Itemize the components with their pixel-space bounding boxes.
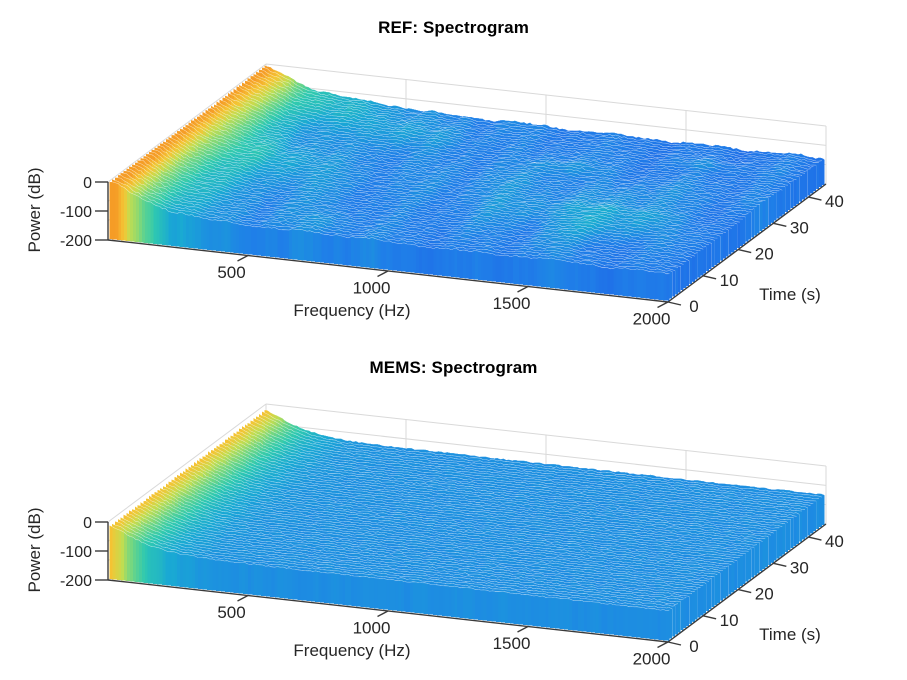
matlab-figure-window: REF: Spectrogram 50010001500200001020304… [0,0,907,680]
x-tick-label: 2000 [633,310,671,329]
x-tick-label: 1500 [493,634,531,653]
z-tick-label: 0 [83,515,92,532]
subplot-mems: MEMS: Spectrogram 5001000150020000102030… [0,340,907,680]
x-tick-label: 500 [217,263,245,282]
subplot-ref: REF: Spectrogram 50010001500200001020304… [0,0,907,340]
z-tick-label: -200 [60,573,92,590]
y-tick-label: 30 [790,218,809,237]
x-tick-label: 1500 [493,294,531,313]
y-tick-label: 0 [689,637,698,656]
x-tick-label: 1000 [353,279,391,298]
y-axis-label: Time (s) [759,285,821,304]
axes-3d-ref: 5001000150020000102030400-100-200Frequen… [0,0,907,340]
z-axis-label: Power (dB) [25,507,44,592]
z-axis-label: Power (dB) [25,167,44,252]
x-axis-label: Frequency (Hz) [293,641,410,660]
y-tick-label: 40 [825,532,844,551]
y-tick-label: 0 [689,297,698,316]
x-tick-label: 500 [217,603,245,622]
x-axis-label: Frequency (Hz) [293,301,410,320]
y-tick-label: 10 [720,611,739,630]
y-tick-label: 20 [755,245,774,264]
y-axis-label: Time (s) [759,625,821,644]
axes-3d-mems: 5001000150020000102030400-100-200Frequen… [0,340,907,680]
y-tick-label: 40 [825,192,844,211]
z-tick-label: -100 [60,204,92,221]
z-tick-label: -200 [60,233,92,250]
z-tick-label: 0 [83,175,92,192]
z-tick-label: -100 [60,544,92,561]
y-tick-label: 30 [790,558,809,577]
x-tick-label: 1000 [353,619,391,638]
y-tick-label: 20 [755,585,774,604]
x-tick-label: 2000 [633,650,671,669]
y-tick-label: 10 [720,271,739,290]
